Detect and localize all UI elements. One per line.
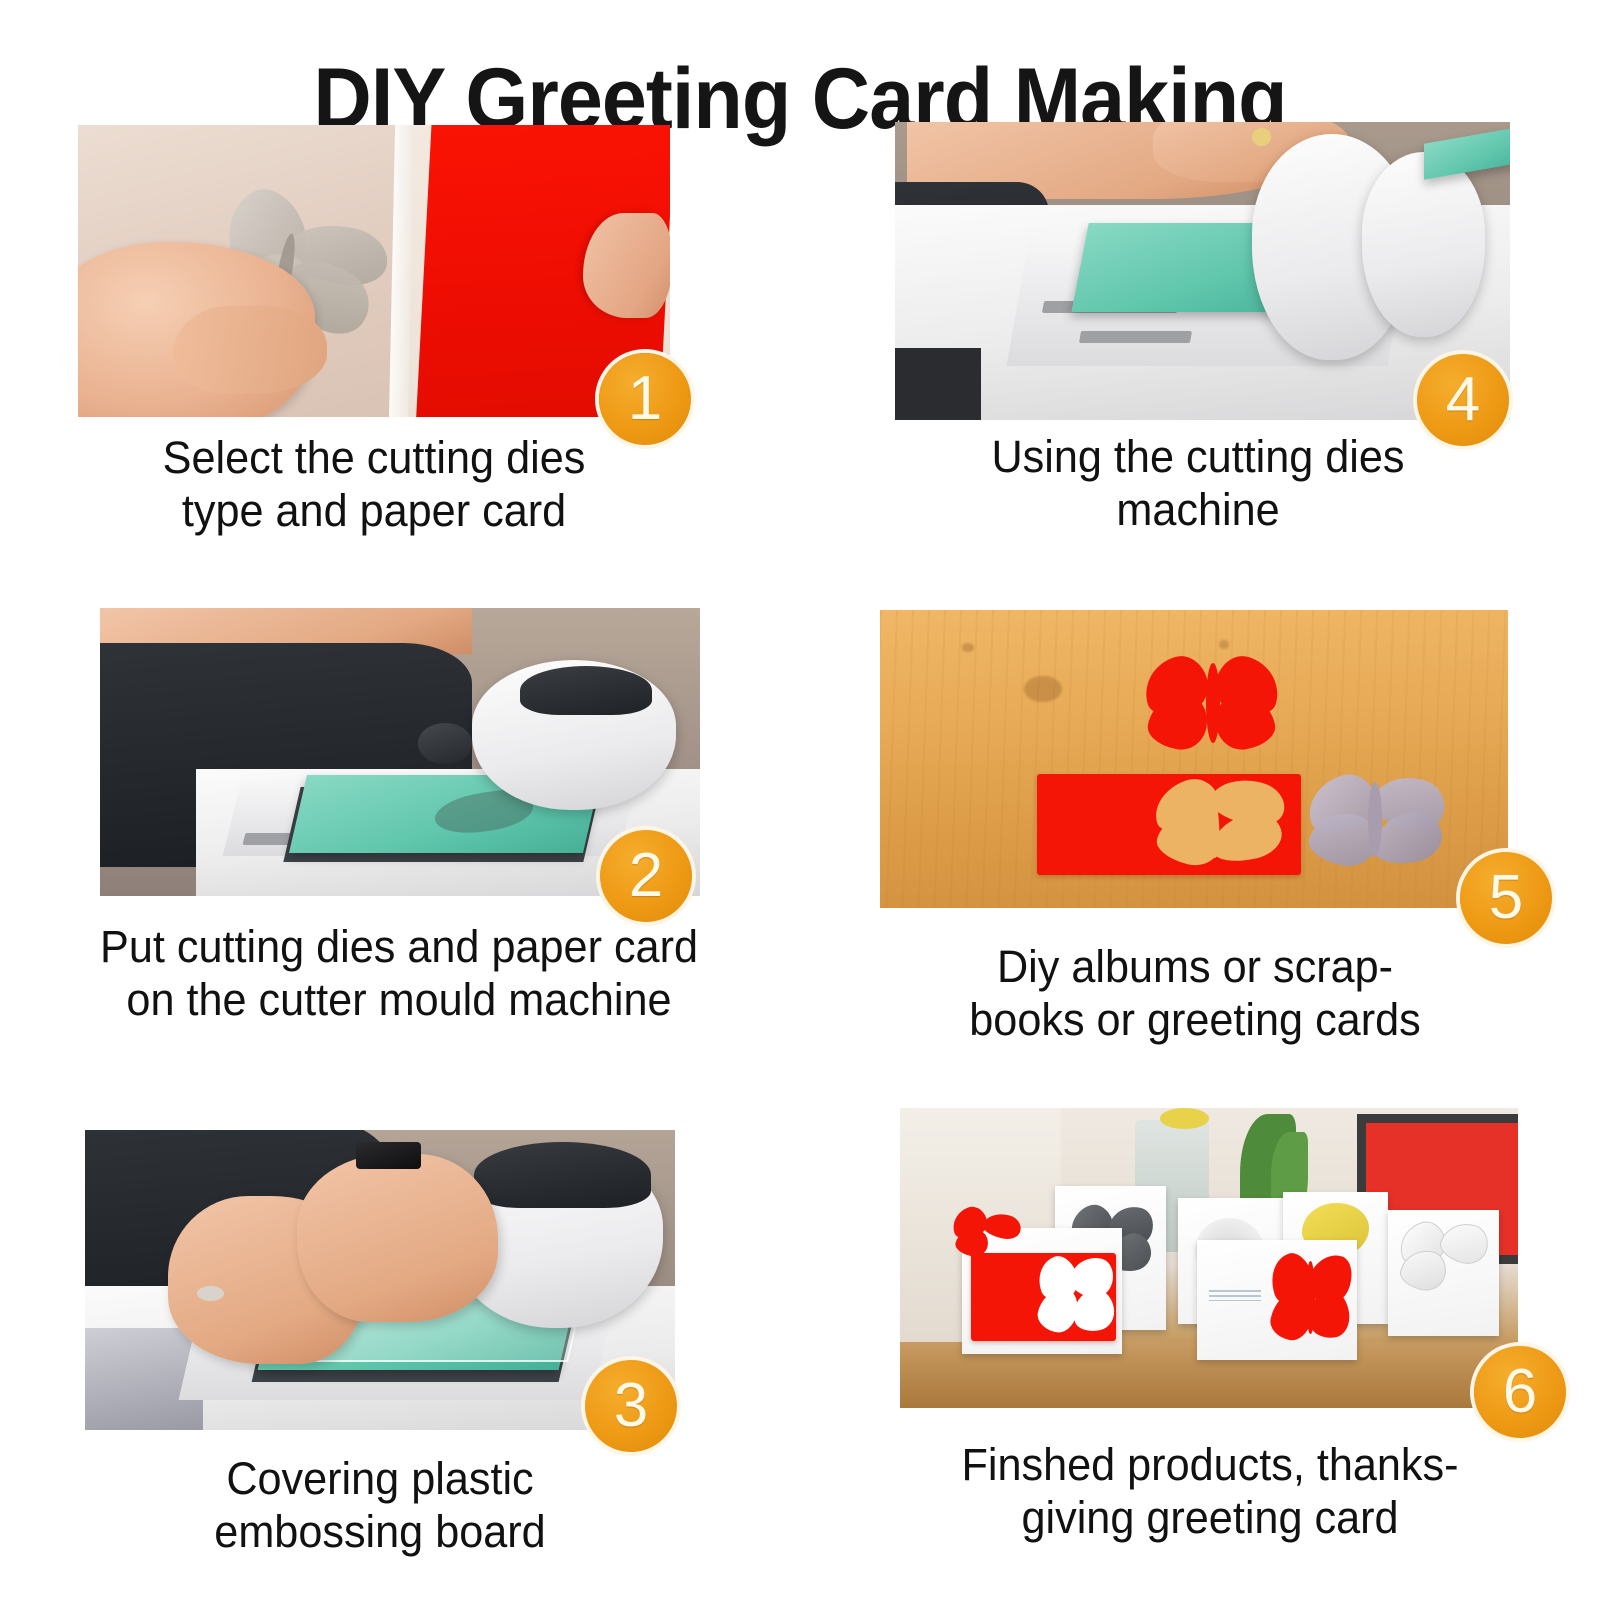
step-caption-1: Select the cutting dies type and paper c… <box>80 431 668 537</box>
step-badge-5: 5 <box>1460 852 1552 944</box>
step-6-photo <box>900 1108 1518 1408</box>
red-offcut-on-card <box>971 1253 1116 1341</box>
step-card-3: 3 Covering plastic embossing board <box>85 1130 705 1600</box>
step-badge-4: 4 <box>1417 354 1509 446</box>
step-badge-3: 3 <box>585 1360 677 1452</box>
machine-roller-arm <box>474 1142 651 1208</box>
red-butterfly-cutout <box>1144 658 1282 753</box>
step-caption-6: Finshed products, thanks- giving greetin… <box>895 1438 1525 1544</box>
step-3-photo <box>85 1130 675 1430</box>
wood-knot <box>1219 640 1229 649</box>
silver-butterfly-die <box>1307 777 1445 866</box>
step-card-2: 2 Put cutting dies and paper card on the… <box>100 608 720 1068</box>
steps-grid: 1 Select the cutting dies type and paper… <box>0 108 1600 1600</box>
step-card-6: 6 Finshed products, thanks- giving greet… <box>900 1108 1540 1598</box>
tray-slot <box>1078 331 1191 343</box>
step-4-photo <box>895 122 1510 420</box>
step-card-5: 5 Diy albums or scrap- books or greeting… <box>880 610 1520 1070</box>
machine-handle-knob <box>418 723 472 763</box>
step-badge-2: 2 <box>600 830 692 922</box>
wood-knot <box>1024 676 1062 703</box>
step-caption-4: Using the cutting dies machine <box>901 430 1494 536</box>
greeting-card-red-offcut <box>962 1228 1123 1354</box>
red-butterfly-on-card <box>1271 1254 1351 1343</box>
card-greeting-text <box>1209 1290 1260 1301</box>
ring <box>197 1286 224 1301</box>
step-card-1: 1 Select the cutting dies type and paper… <box>78 125 678 555</box>
step-5-photo <box>880 610 1508 908</box>
greeting-card-red-butterfly <box>1197 1240 1358 1360</box>
step-badge-6: 6 <box>1474 1346 1566 1438</box>
step-1-photo <box>78 125 670 417</box>
step-caption-2: Put cutting dies and paper card on the c… <box>10 920 788 1026</box>
step-caption-3: Covering plastic embossing board <box>91 1452 669 1558</box>
step-card-4: 4 Using the cutting dies machine <box>895 122 1515 552</box>
right-hand <box>297 1154 498 1322</box>
step-badge-1: 1 <box>599 353 691 445</box>
ring <box>1252 128 1272 146</box>
butterfly-negative-space <box>1038 1257 1113 1336</box>
fingers <box>173 306 327 394</box>
machine-roller-arm <box>520 666 652 715</box>
butterfly-negative-space <box>1153 780 1285 867</box>
yellow-flower <box>1160 1108 1209 1129</box>
greeting-card-white-butterfly <box>1388 1210 1499 1336</box>
dark-strip <box>895 348 981 420</box>
white-butterfly-on-card <box>1399 1223 1486 1291</box>
red-butterfly-above-card <box>952 1208 1019 1258</box>
red-paper-offcut <box>1037 774 1301 875</box>
wristwatch <box>356 1142 421 1169</box>
wood-knot <box>962 643 975 652</box>
thumb-holding-card <box>583 213 670 318</box>
step-caption-5: Diy albums or scrap- books or greeting c… <box>896 940 1493 1046</box>
